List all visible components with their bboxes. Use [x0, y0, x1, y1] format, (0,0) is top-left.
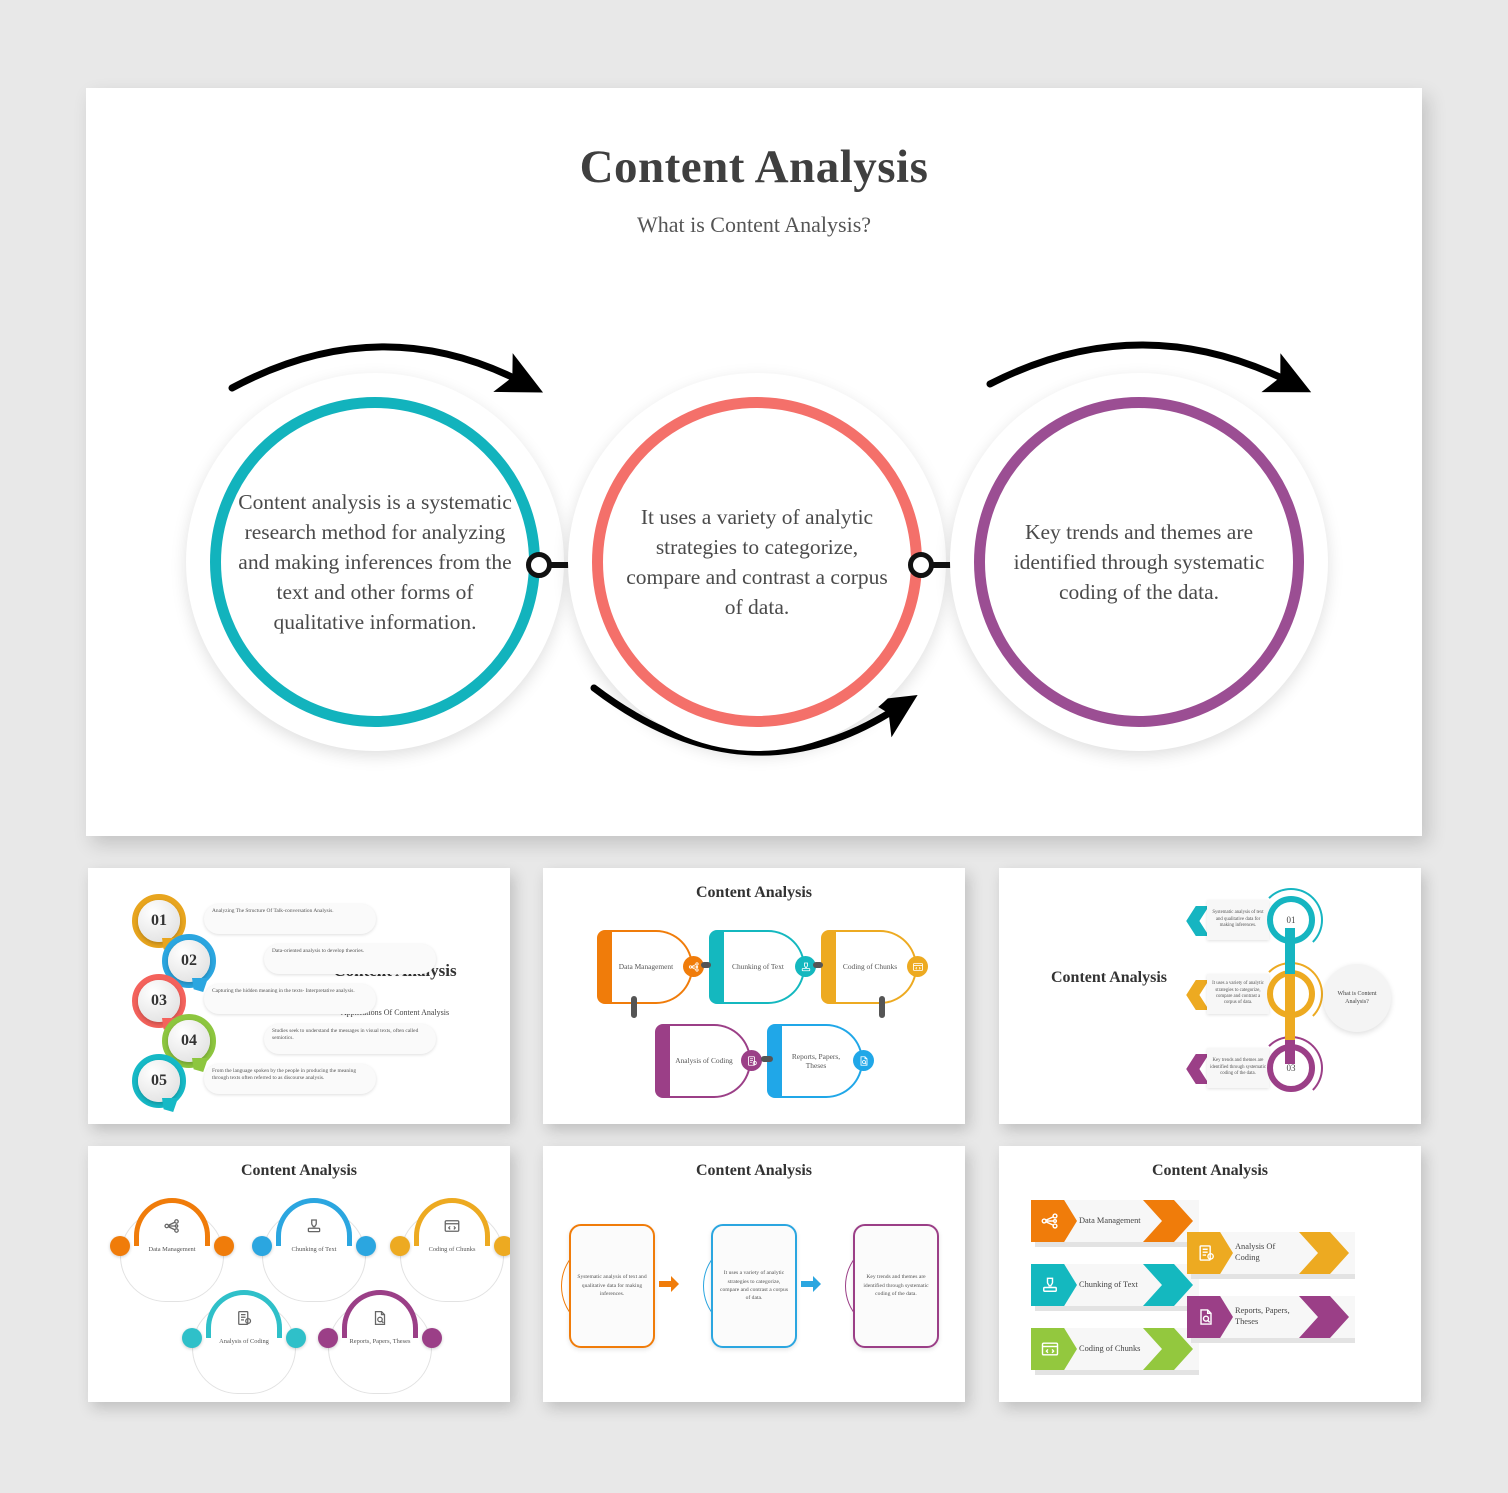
- document-list-icon: [1196, 1243, 1216, 1263]
- network-icon: [1040, 1211, 1060, 1231]
- banner-icon: [1040, 1275, 1060, 1295]
- spine-segment: [1285, 928, 1295, 974]
- content-card[interactable]: Key trends and themes are identified thr…: [853, 1224, 939, 1348]
- page-subtitle: What is Content Analysis?: [86, 212, 1422, 238]
- stamp-icon: [305, 1217, 323, 1235]
- content-card[interactable]: It uses a variety of analytic strategies…: [711, 1224, 797, 1348]
- thumbnail-arrow-banners[interactable]: Content Analysis Data ManagementChunking…: [999, 1146, 1421, 1402]
- banner-item[interactable]: Coding of Chunks: [1031, 1328, 1199, 1370]
- step-circle-1[interactable]: Content analysis is a systematic researc…: [186, 373, 564, 751]
- thumbnail-bubble-icons[interactable]: Content Analysis Data ManagementChunking…: [88, 1146, 510, 1402]
- pointer-tail: [162, 1098, 178, 1112]
- thumbnail-process-flow[interactable]: Content Analysis Data ManagementChunking…: [543, 868, 965, 1124]
- code-window-icon: [443, 1217, 461, 1235]
- bubble-dot-right: [286, 1328, 306, 1348]
- banner-icon: [1196, 1307, 1216, 1327]
- bubble-label: Analysis of Coding: [204, 1338, 284, 1346]
- banner-shadow: [1035, 1242, 1199, 1247]
- document-search-icon: [371, 1309, 389, 1327]
- bubble-dot-right: [494, 1236, 510, 1256]
- banner-shadow: [1191, 1274, 1355, 1279]
- center-label: What is Content Analysis?: [1323, 964, 1391, 1032]
- node-label: Data Management: [613, 930, 679, 1004]
- step-circle-3[interactable]: Key trends and themes are identified thr…: [950, 373, 1328, 751]
- bubble-dot-left: [182, 1328, 202, 1348]
- thumb3-heading: Content Analysis: [1039, 968, 1179, 989]
- node-icon-badge: [741, 1050, 762, 1071]
- thumbnail-circular-chevrons[interactable]: Content Analysis Systematic analysis of …: [999, 868, 1421, 1124]
- banner-label: Analysis Of Coding: [1235, 1232, 1297, 1274]
- number-badge: 05: [138, 1060, 180, 1102]
- flow-node[interactable]: Reports, Papers, Theses: [767, 1024, 863, 1098]
- connector-bar: [879, 996, 885, 1018]
- banner-shadow: [1035, 1306, 1199, 1311]
- banner-label: Reports, Papers, Theses: [1235, 1296, 1297, 1338]
- slide-deck-preview: Content Analysis What is Content Analysi…: [0, 0, 1508, 1493]
- step-text-2: It uses a variety of analytic strategies…: [616, 397, 898, 727]
- spine-segment: [1285, 974, 1295, 1044]
- thumb5-title: Content Analysis: [543, 1162, 965, 1180]
- code-window-icon: [912, 961, 924, 973]
- banner-item[interactable]: Data Management: [1031, 1200, 1199, 1242]
- bubble-label: Chunking of Text: [274, 1246, 354, 1254]
- list-item-text: Capturing the hidden meaning in the text…: [212, 988, 364, 995]
- thumb4-title: Content Analysis: [88, 1162, 510, 1180]
- node-icon-badge: [853, 1050, 874, 1071]
- bubble-label: Reports, Papers, Theses: [340, 1338, 420, 1346]
- thumbnail-cards-arrows[interactable]: Content Analysis Systematic analysis of …: [543, 1146, 965, 1402]
- thumb2-title: Content Analysis: [543, 884, 965, 902]
- thumb6-title: Content Analysis: [999, 1162, 1421, 1180]
- banner-item[interactable]: Chunking of Text: [1031, 1264, 1199, 1306]
- stamp-icon: [800, 961, 812, 973]
- list-item-text: From the language spoken by the people i…: [212, 1068, 364, 1083]
- document-search-icon: [858, 1055, 870, 1067]
- document-search-icon: [1196, 1307, 1216, 1327]
- node-color-bar: [709, 930, 724, 1004]
- list-item-text: Data-oriented analysis to develop theori…: [272, 948, 424, 955]
- banner-shadow: [1035, 1370, 1199, 1375]
- document-list-icon: [746, 1055, 758, 1067]
- flow-node[interactable]: Chunking of Text: [709, 930, 805, 1004]
- arrow-right-icon: [799, 1274, 823, 1294]
- bubble-label: Data Management: [132, 1246, 212, 1254]
- bubble-dot-right: [422, 1328, 442, 1348]
- bubble-dot-left: [390, 1236, 410, 1256]
- bubble-label: Coding of Chunks: [412, 1246, 492, 1254]
- list-item[interactable]: 05From the language spoken by the people…: [132, 1054, 432, 1108]
- banner-label: Data Management: [1079, 1200, 1141, 1242]
- connector-bar: [813, 962, 823, 968]
- node-color-bar: [655, 1024, 670, 1098]
- chevron-icon: [1185, 1054, 1209, 1084]
- flow-node[interactable]: Data Management: [597, 930, 693, 1004]
- network-icon: [163, 1217, 181, 1235]
- bubble-dot-right: [214, 1236, 234, 1256]
- thumbnail-applications[interactable]: Content Analysis Applications Of Content…: [88, 868, 510, 1124]
- main-slide: Content Analysis What is Content Analysi…: [86, 88, 1422, 836]
- banner-label: Coding of Chunks: [1079, 1328, 1141, 1370]
- node-color-bar: [597, 930, 612, 1004]
- chevron-icon: [1185, 980, 1209, 1010]
- stamp-icon: [1040, 1275, 1060, 1295]
- step-circle-2[interactable]: It uses a variety of analytic strategies…: [568, 373, 946, 751]
- network-icon: [688, 961, 700, 973]
- node-label: Analysis of Coding: [671, 1024, 737, 1098]
- banner-icon: [1040, 1211, 1060, 1231]
- node-label: Reports, Papers, Theses: [783, 1024, 849, 1098]
- page-title: Content Analysis: [86, 140, 1422, 194]
- chevron-icon: [1185, 906, 1209, 936]
- connector-node-left: [908, 552, 934, 578]
- bubble-dot-left: [318, 1328, 338, 1348]
- content-card[interactable]: Systematic analysis of text and qualitat…: [569, 1224, 655, 1348]
- bubble-node[interactable]: Reports, Papers, Theses: [320, 1286, 440, 1396]
- node-icon-badge: [907, 956, 928, 977]
- connector-bar: [631, 996, 637, 1018]
- banner-icon: [1196, 1243, 1216, 1263]
- document-list-icon: [235, 1309, 253, 1327]
- list-item-text: Studies seek to understand the messages …: [272, 1028, 424, 1043]
- banner-item[interactable]: Reports, Papers, Theses: [1187, 1296, 1355, 1338]
- list-item-text: Analyzing The Structure Of Talk-conversa…: [212, 908, 364, 915]
- connector-bar: [701, 962, 711, 968]
- spine-segment: [1285, 1040, 1295, 1064]
- thumbnail-grid: Content Analysis Applications Of Content…: [0, 868, 1508, 1428]
- banner-label: Chunking of Text: [1079, 1264, 1141, 1306]
- bubble-dot-left: [110, 1236, 130, 1256]
- bubble-dot-right: [356, 1236, 376, 1256]
- banner-item[interactable]: Analysis Of Coding: [1187, 1232, 1355, 1274]
- banner-icon: [1040, 1339, 1060, 1359]
- node-color-bar: [821, 930, 836, 1004]
- bubble-node[interactable]: Analysis of Coding: [184, 1286, 304, 1396]
- node-label: Coding of Chunks: [837, 930, 903, 1004]
- step-text-3: Key trends and themes are identified thr…: [998, 397, 1280, 727]
- connector-node-left: [526, 552, 552, 578]
- arrow-right-icon: [657, 1274, 681, 1294]
- bubble-dot-left: [252, 1236, 272, 1256]
- banner-shadow: [1191, 1338, 1355, 1343]
- code-window-icon: [1040, 1339, 1060, 1359]
- step-text-1: Content analysis is a systematic researc…: [234, 397, 516, 727]
- flow-node[interactable]: Analysis of Coding: [655, 1024, 751, 1098]
- connector-bar: [761, 1056, 773, 1062]
- flow-node[interactable]: Coding of Chunks: [821, 930, 917, 1004]
- node-label: Chunking of Text: [725, 930, 791, 1004]
